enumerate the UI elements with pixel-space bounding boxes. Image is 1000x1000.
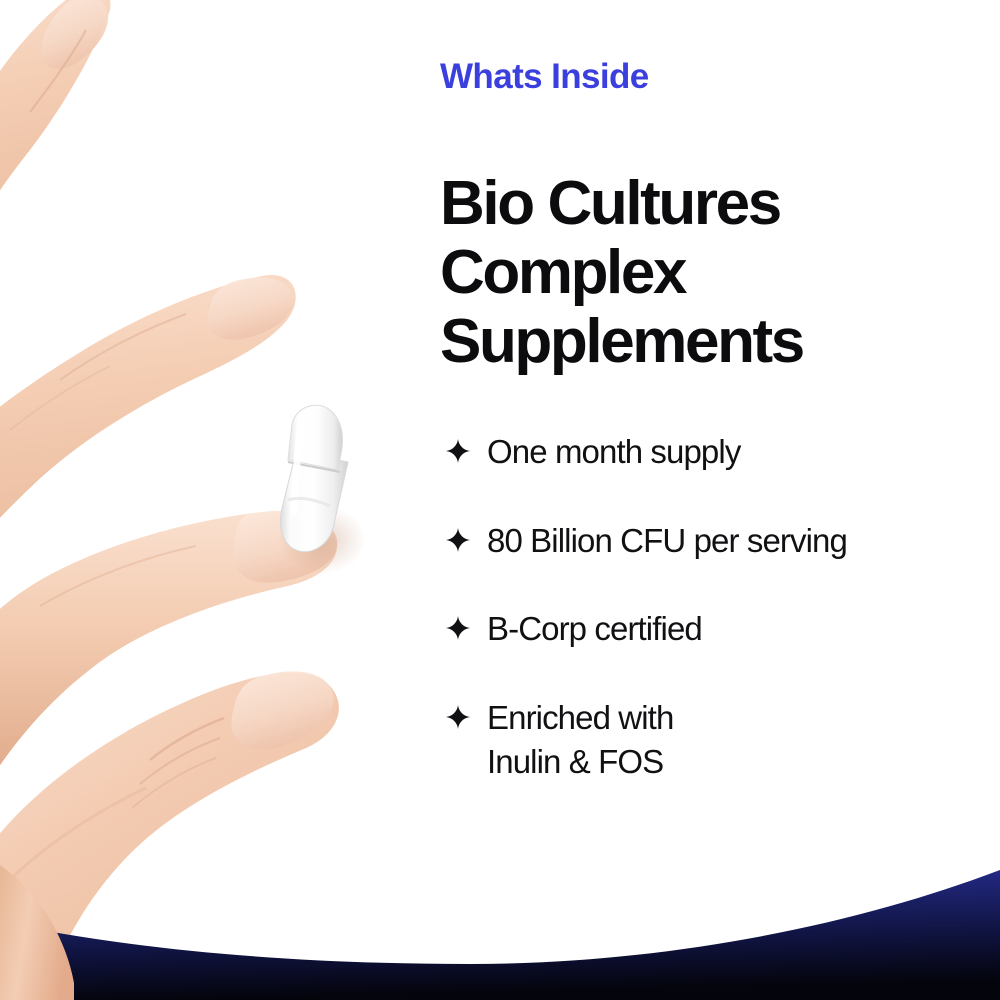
product-feature-card: Whats Inside Bio Cultures Complex Supple… — [0, 0, 1000, 1000]
list-item: Enriched with Inulin & FOS — [445, 696, 985, 785]
four-pointed-star-icon — [446, 528, 470, 552]
list-item: One month supply — [445, 430, 985, 475]
four-pointed-star-icon — [446, 616, 470, 640]
middle-finger — [0, 0, 110, 300]
list-item: B-Corp certified — [445, 607, 985, 652]
copy-column: Whats Inside Bio Cultures Complex Supple… — [440, 0, 985, 1000]
list-item-label: Enriched with Inulin & FOS — [487, 696, 985, 785]
white-capsule — [278, 405, 366, 574]
headline-line-1: Bio Cultures — [440, 169, 985, 238]
product-hero-image — [0, 0, 420, 1000]
page-title: Bio Cultures Complex Supplements — [440, 169, 985, 377]
headline-line-2: Complex — [440, 238, 985, 307]
headline-line-3: Supplements — [440, 307, 985, 376]
list-item-label: B-Corp certified — [487, 607, 985, 652]
four-pointed-star-icon — [446, 705, 470, 729]
four-pointed-star-icon — [446, 439, 470, 463]
list-item-label: 80 Billion CFU per serving — [487, 519, 985, 564]
list-item: 80 Billion CFU per serving — [445, 519, 985, 564]
list-item-label: One month supply — [487, 430, 985, 475]
eyebrow-label: Whats Inside — [440, 58, 649, 97]
feature-list: One month supply 80 Billion CFU per serv… — [445, 430, 985, 785]
thumb — [0, 671, 339, 1000]
